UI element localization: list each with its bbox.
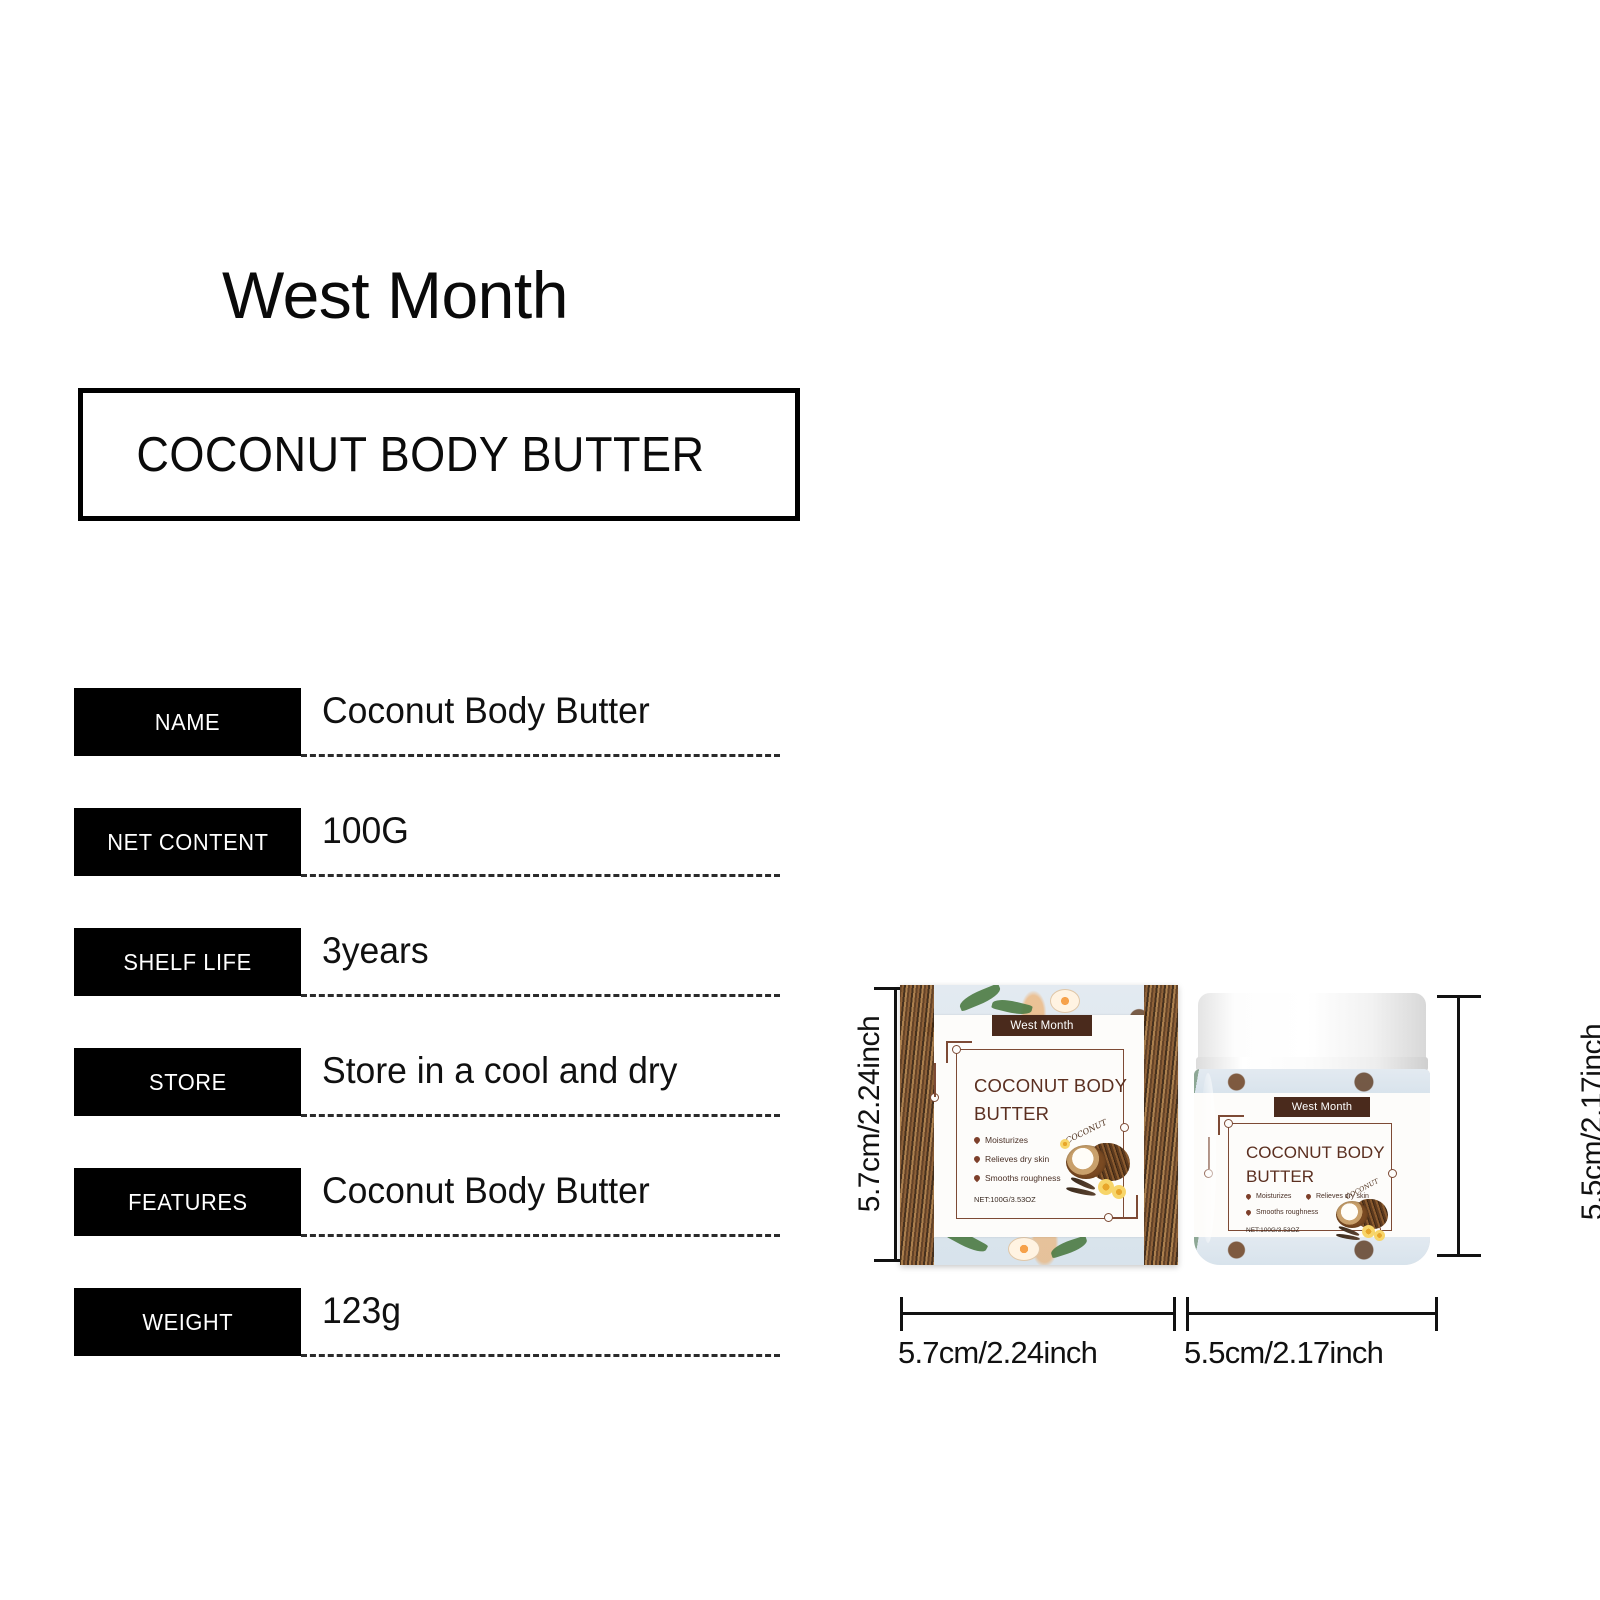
dimension-label: 5.5cm/2.17inch xyxy=(1184,1335,1383,1371)
dimension-line xyxy=(894,987,897,1262)
label-frame-elbow xyxy=(1218,1115,1220,1135)
spec-label-text: STORE xyxy=(149,1069,227,1096)
dimension-cap-bottom xyxy=(1437,1254,1481,1257)
page-title: COCONUT BODY BUTTER xyxy=(83,427,704,483)
spec-divider xyxy=(301,994,780,997)
bullet-dot-icon xyxy=(1245,1193,1252,1200)
label-frame-elbow xyxy=(1218,1115,1244,1117)
dimension-label: 5.5cm/2.17inch xyxy=(1576,1024,1600,1220)
spec-table: NAME Coconut Body Butter NET CONTENT 100… xyxy=(74,688,780,1408)
product-image-area: 5.7cm/2.24inch 5.5cm/2.17inch West Month xyxy=(830,955,1530,1375)
label-frame-elbow xyxy=(934,1063,936,1097)
spec-value-text: 123g xyxy=(322,1290,401,1332)
spec-row-features: FEATURES Coconut Body Butter xyxy=(74,1168,780,1288)
dimension-cap-right xyxy=(1173,1297,1176,1331)
spec-label-text: NAME xyxy=(155,709,220,736)
spec-value-text: 100G xyxy=(322,810,409,852)
label-bullet-text: Moisturizes xyxy=(1256,1193,1291,1200)
spec-row-weight: WEIGHT 123g xyxy=(74,1288,780,1408)
spec-value-text: Coconut Body Butter xyxy=(322,690,650,732)
bullet-dot-icon xyxy=(1305,1193,1312,1200)
flower-icon xyxy=(1112,1185,1126,1199)
label-frame-dot xyxy=(1224,1119,1233,1128)
spec-divider xyxy=(301,1354,780,1357)
bullet-dot-icon xyxy=(973,1155,981,1163)
spec-value-text: Store in a cool and dry xyxy=(322,1050,677,1092)
flower-icon xyxy=(1374,1230,1385,1241)
product-infographic: West Month COCONUT BODY BUTTER NAME Coco… xyxy=(0,0,1600,1600)
spec-label-chip: NET CONTENT xyxy=(74,808,301,876)
bullet-dot-icon xyxy=(973,1136,981,1144)
label-bullet-text: Moisturizes xyxy=(985,1135,1028,1145)
spec-value-text: Coconut Body Butter xyxy=(322,1170,650,1212)
bullet-dot-icon xyxy=(1245,1209,1252,1216)
carton-label-panel: West Month COCONUT BODY BUTTER Moisturiz… xyxy=(934,1015,1144,1237)
product-carton: West Month COCONUT BODY BUTTER Moisturiz… xyxy=(900,985,1178,1265)
product-jar: West Month COCONUT BODY BUTTER Moisturiz… xyxy=(1186,993,1438,1265)
dimension-widths: 5.7cm/2.24inch 5.5cm/2.17inch xyxy=(830,1285,1530,1377)
spec-row-net-content: NET CONTENT 100G xyxy=(74,808,780,928)
label-bullet-item: Moisturizes xyxy=(1246,1193,1291,1200)
flower-icon xyxy=(1050,989,1080,1013)
coconut-illustration: COCONUT xyxy=(1328,1185,1392,1247)
dimension-line xyxy=(1186,1312,1438,1315)
coconut-husk-texture-left xyxy=(900,985,934,1265)
flower-icon xyxy=(1060,1139,1070,1149)
label-bullet-item: Smooths roughness xyxy=(974,1173,1061,1183)
jar-label-panel: West Month COCONUT BODY BUTTER Moisturiz… xyxy=(1194,1093,1430,1237)
label-bullet-item: Relieves dry skin xyxy=(974,1154,1049,1164)
coconut-half-shell xyxy=(1336,1201,1368,1228)
spec-divider xyxy=(301,1234,780,1237)
label-bullet-item: Smooths roughness xyxy=(1246,1209,1318,1216)
spec-label-chip: SHELF LIFE xyxy=(74,928,301,996)
label-title-line2: BUTTER xyxy=(1246,1167,1314,1187)
spec-label-text: SHELF LIFE xyxy=(123,949,251,976)
jar-pattern-band-bottom xyxy=(1194,1235,1430,1265)
dimension-cap-right xyxy=(1435,1297,1438,1331)
label-bullet-item: Moisturizes xyxy=(974,1135,1028,1145)
label-frame-dot xyxy=(952,1045,961,1054)
spec-row-store: STORE Store in a cool and dry xyxy=(74,1048,780,1168)
label-frame-elbow xyxy=(946,1041,972,1043)
dimension-label: 5.7cm/2.24inch xyxy=(898,1335,1097,1371)
spec-label-chip: STORE xyxy=(74,1048,301,1116)
jar-highlight xyxy=(1200,1073,1216,1243)
label-brand-tag: West Month xyxy=(992,1015,1092,1036)
spec-divider xyxy=(301,754,780,757)
label-title-line1: COCONUT BODY xyxy=(1246,1143,1385,1163)
label-frame-elbow xyxy=(1136,1195,1138,1219)
label-title-line1: COCONUT BODY xyxy=(974,1075,1127,1097)
label-brand-tag: West Month xyxy=(1274,1097,1370,1117)
label-net-weight: NET:100G/3.53OZ xyxy=(974,1195,1036,1204)
brand-title: West Month xyxy=(222,262,568,328)
dimension-line xyxy=(900,1312,1176,1315)
coconut-illustration: COCONUT xyxy=(1056,1127,1134,1209)
jar-lid xyxy=(1198,993,1426,1065)
dimension-carton-width xyxy=(900,1297,1176,1331)
coconut-half-shell xyxy=(1066,1145,1106,1179)
label-frame-dot xyxy=(1388,1169,1397,1178)
bullet-dot-icon xyxy=(973,1174,981,1182)
spec-row-name: NAME Coconut Body Butter xyxy=(74,688,780,808)
spec-label-text: FEATURES xyxy=(128,1189,247,1216)
dimension-jar-width xyxy=(1186,1297,1438,1331)
label-bullet-text: Smooths roughness xyxy=(985,1173,1061,1183)
spec-divider xyxy=(301,874,780,877)
spec-row-shelf-life: SHELF LIFE 3years xyxy=(74,928,780,1048)
spec-label-text: NET CONTENT xyxy=(107,829,268,856)
jar-body: West Month COCONUT BODY BUTTER Moisturiz… xyxy=(1194,1069,1430,1265)
dimension-label: 5.7cm/2.24inch xyxy=(853,1016,887,1212)
spec-label-text: WEIGHT xyxy=(142,1309,233,1336)
label-net-weight: NET:100G/3.53OZ xyxy=(1246,1227,1299,1234)
spec-label-chip: WEIGHT xyxy=(74,1288,301,1356)
jar-pattern-band-top xyxy=(1194,1069,1430,1095)
flower-icon xyxy=(1008,1237,1040,1261)
label-frame-elbow xyxy=(946,1041,948,1063)
label-title-line2: BUTTER xyxy=(974,1103,1049,1125)
label-bullet-text: Smooths roughness xyxy=(1256,1209,1318,1216)
dimension-line xyxy=(1457,995,1460,1257)
spec-value-text: 3years xyxy=(322,930,429,972)
label-frame-elbow xyxy=(1112,1217,1138,1219)
spec-label-chip: NAME xyxy=(74,688,301,756)
spec-label-chip: FEATURES xyxy=(74,1168,301,1236)
spec-divider xyxy=(301,1114,780,1117)
label-bullet-text: Relieves dry skin xyxy=(985,1154,1049,1164)
product-title-box: COCONUT BODY BUTTER xyxy=(78,388,800,521)
coconut-husk-texture-right xyxy=(1144,985,1178,1265)
